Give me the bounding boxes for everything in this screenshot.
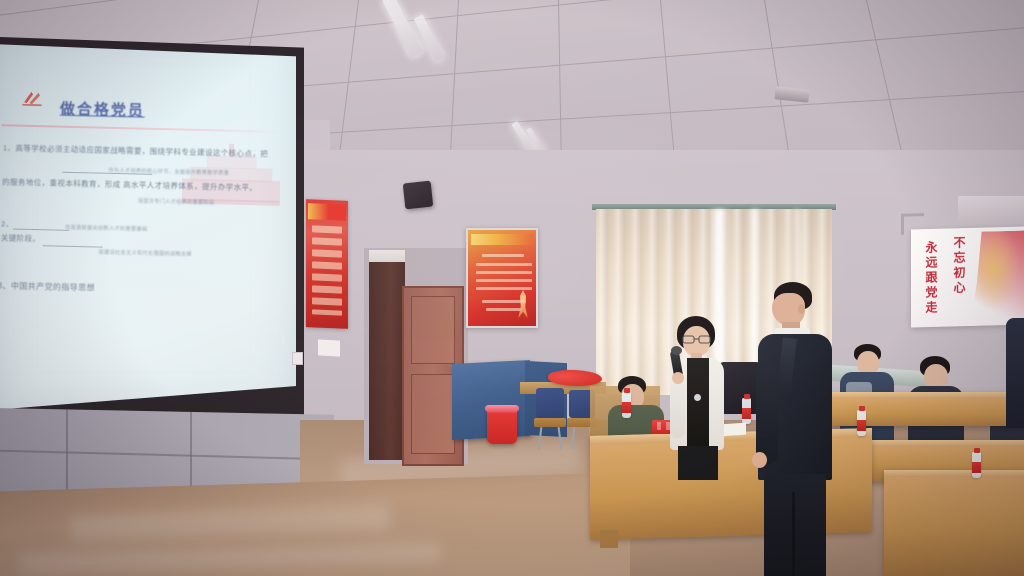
water-bottle bbox=[972, 452, 981, 478]
red-gold-wall-poster bbox=[466, 228, 538, 328]
red-bucket bbox=[487, 408, 517, 444]
water-bottle bbox=[857, 410, 866, 436]
cpc-party-emblem-icon bbox=[18, 87, 47, 110]
slide-subline: 是建设社会主义现代化强国的战略支撑 bbox=[98, 249, 191, 258]
person-partial-foreground bbox=[1006, 318, 1024, 428]
black-top bbox=[687, 358, 709, 450]
badge bbox=[694, 394, 701, 401]
slide-line: 关键阶段。 bbox=[1, 232, 41, 244]
poster-figure-icon bbox=[516, 290, 530, 318]
slide-line: 2、 bbox=[1, 218, 14, 229]
light-switch[interactable] bbox=[292, 352, 303, 365]
board-header bbox=[308, 203, 346, 221]
poster-header bbox=[471, 234, 533, 245]
blue-office-chair bbox=[534, 388, 566, 450]
desk-leg bbox=[600, 530, 618, 548]
water-bottle bbox=[742, 398, 751, 424]
slide-subline: 也是造就拔尖创新人才的重要基础 bbox=[65, 224, 147, 233]
wall-speaker bbox=[403, 181, 434, 210]
door-dark-leaf[interactable] bbox=[369, 262, 405, 460]
slide-subline: 深层次专门人才培养的重要阶段 bbox=[138, 197, 215, 206]
presentation-slide: 做合格党员 1、高等学校必须主动适应国家战略需要，围绕学科专业建设这个核心点，把… bbox=[0, 18, 296, 425]
photo-scene: 做合格党员 1、高等学校必须主动适应国家战略需要，围绕学科专业建设这个核心点，把… bbox=[0, 0, 1024, 576]
banner-text-left: 永远跟党走 bbox=[923, 241, 940, 323]
trousers bbox=[764, 474, 826, 576]
banner-mount-bracket bbox=[901, 213, 924, 235]
water-bottle bbox=[622, 392, 631, 418]
red-notice-board bbox=[306, 199, 348, 329]
projection-screen: 做合格党员 1、高等学校必须主动适应国家战略需要，围绕学科专业建设这个核心点，把… bbox=[0, 18, 304, 430]
wooden-lecture-desk bbox=[884, 470, 1024, 576]
red-cloth bbox=[548, 370, 602, 386]
banner-ribbon-graphic bbox=[970, 230, 1024, 324]
slide-line: 3、中国共产党的指导思想 bbox=[0, 280, 95, 293]
wall-paper-note bbox=[318, 339, 340, 356]
eyeglasses-icon bbox=[682, 335, 712, 344]
air-vent bbox=[958, 196, 1024, 230]
slide-divider bbox=[1, 124, 281, 133]
slide-title: 做合格党员 bbox=[60, 98, 145, 121]
banner-text-right: 不忘初心 bbox=[951, 236, 968, 316]
party-slogan-banner: 不忘初心 永远跟党走 bbox=[911, 227, 1024, 328]
screen-surface: 做合格党员 1、高等学校必须主动适应国家战略需要，围绕学科专业建设这个核心点，把… bbox=[0, 18, 296, 418]
microphone-head-icon bbox=[671, 346, 682, 355]
slide-subline: 作为人才培养的核心环节，全面提升教育教学质量 bbox=[108, 167, 229, 177]
